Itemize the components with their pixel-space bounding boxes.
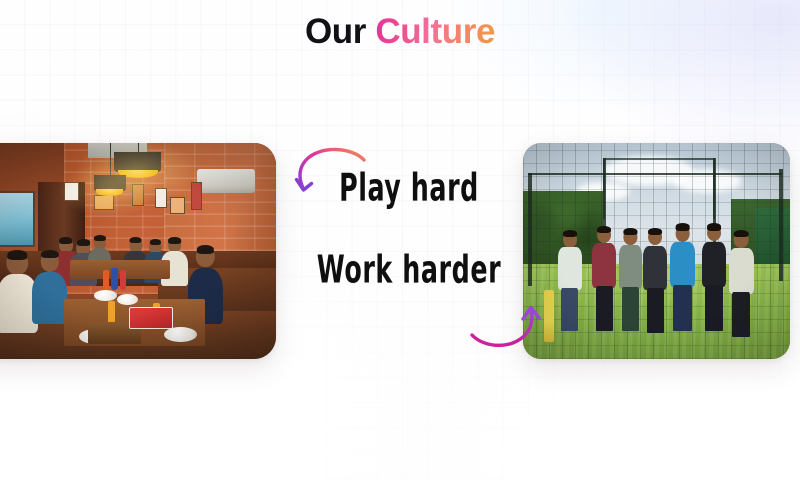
cricket-team-photo[interactable]: [523, 143, 790, 359]
page-title-gradient: Culture: [375, 12, 495, 51]
cricket-team-photo-content: [523, 143, 790, 359]
page-title: Our Culture: [0, 12, 800, 52]
page-title-plain: Our: [305, 12, 366, 51]
curved-arrow-bottom-right-icon: [470, 292, 544, 350]
team-dinner-photo-content: [0, 143, 276, 359]
slide-canvas: Our Culture: [0, 0, 800, 480]
team-dinner-photo[interactable]: [0, 143, 276, 359]
curved-arrow-top-left-icon: [294, 146, 366, 206]
slogan-work-harder: Work harder: [303, 252, 515, 290]
